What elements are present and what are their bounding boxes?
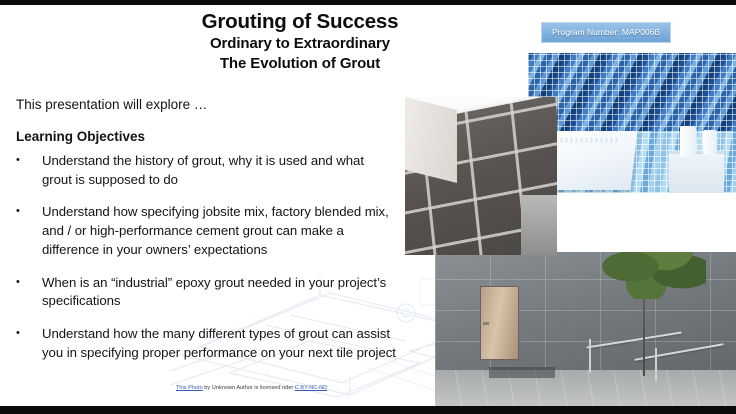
- photo-attribution: This Photo by Unknown Author is licensed…: [176, 385, 327, 391]
- list-item-text: When is an “industrial” epoxy grout need…: [42, 274, 396, 311]
- tree-canopy: [598, 252, 706, 299]
- list-item-text: Understand how the many different types …: [42, 325, 396, 362]
- ground-shadow: [489, 367, 555, 378]
- program-number-badge: Program Number: MAP006B: [541, 22, 671, 43]
- handrail-post: [589, 339, 591, 373]
- white-towel: [547, 131, 637, 190]
- bullet-icon: •: [16, 152, 42, 189]
- learning-objectives-heading: Learning Objectives: [16, 129, 145, 144]
- attribution-middle-text: by Unknown Author is licensed nder: [203, 385, 295, 391]
- presentation-slide: Grouting of Success Ordinary to Extraord…: [0, 0, 736, 414]
- title-block: Grouting of Success Ordinary to Extraord…: [120, 10, 480, 73]
- list-item: • When is an “industrial” epoxy grout ne…: [16, 274, 396, 311]
- candle: [703, 130, 718, 154]
- this-photo-link[interactable]: This Photo: [176, 385, 203, 391]
- learning-objectives-list: • Understand the history of grout, why i…: [16, 152, 396, 377]
- floor-photo-edge-band: [521, 195, 557, 255]
- blue-mosaic-tile-spa-photo: [528, 53, 736, 193]
- list-item: • Understand how the many different type…: [16, 325, 396, 362]
- intro-text: This presentation will explore …: [16, 97, 207, 112]
- paved-ground: [435, 370, 736, 407]
- candle: [680, 126, 697, 157]
- spa-stool: [669, 151, 723, 193]
- handrail-post: [655, 348, 657, 381]
- license-link[interactable]: C BY-NC-ND: [295, 385, 327, 391]
- page-subtitle-2: The Evolution of Grout: [120, 54, 480, 74]
- metal-door: [480, 286, 519, 360]
- bullet-icon: •: [16, 325, 42, 362]
- bullet-icon: •: [16, 203, 42, 259]
- page-title: Grouting of Success: [120, 10, 480, 34]
- list-item-text: Understand the history of grout, why it …: [42, 152, 396, 189]
- gray-stone-facade-photo: [435, 252, 736, 407]
- video-letterbox-bottom: [0, 406, 736, 414]
- floor-photo-wall: [405, 97, 457, 183]
- video-letterbox-top: [0, 0, 736, 5]
- list-item-text: Understand how specifying jobsite mix, f…: [42, 203, 396, 259]
- bullet-icon: •: [16, 274, 42, 311]
- list-item: • Understand the history of grout, why i…: [16, 152, 396, 189]
- list-item: • Understand how specifying jobsite mix,…: [16, 203, 396, 259]
- dark-floor-tile-photo: [405, 97, 557, 255]
- page-subtitle-1: Ordinary to Extraordinary: [120, 34, 480, 54]
